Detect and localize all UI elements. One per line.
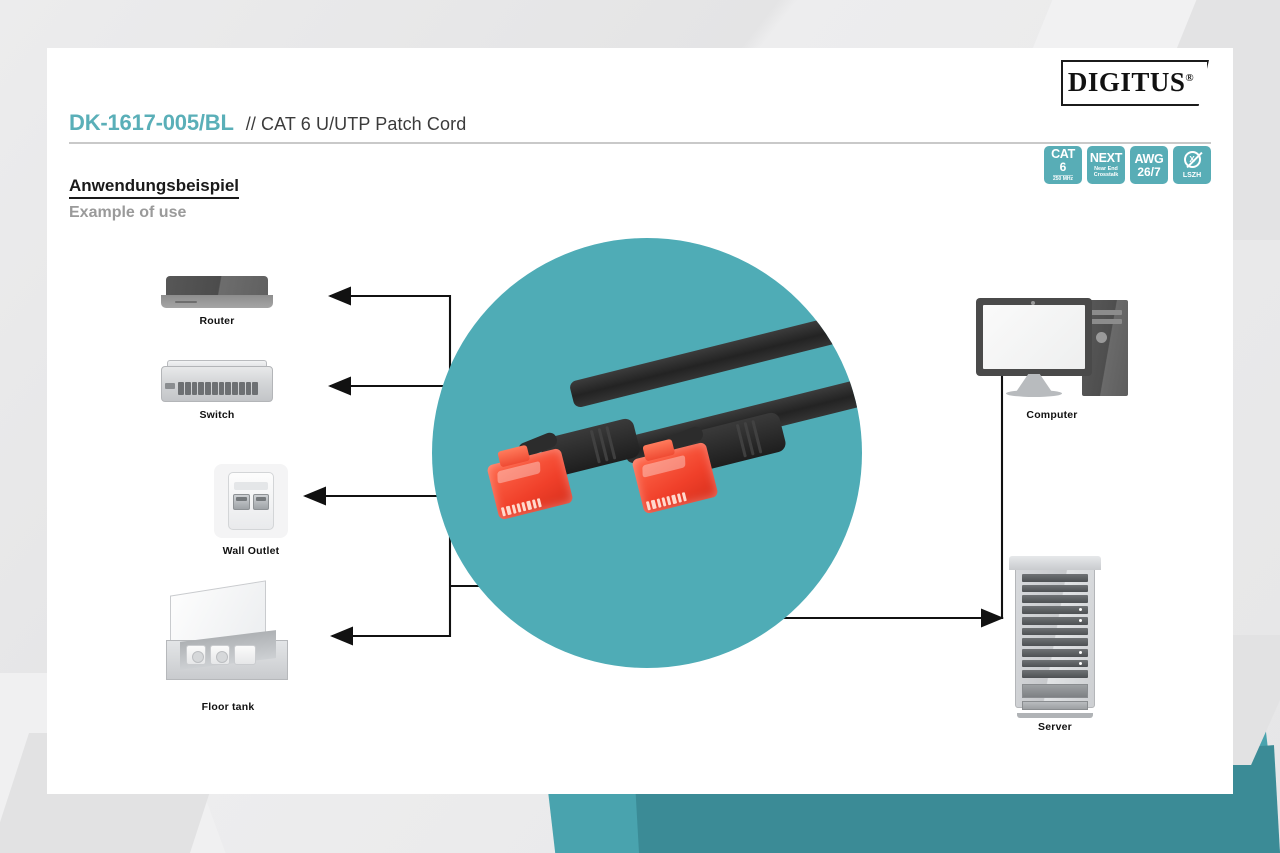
cat6-badge-line2: 6 [1060, 161, 1067, 173]
section-heading-de: Anwendungsbeispiel [69, 176, 239, 199]
title-separator: // [246, 114, 256, 134]
title-divider [69, 142, 1211, 144]
product-photo-circle [432, 238, 862, 668]
logo-wordmark: DIGITUS® [1061, 67, 1201, 98]
lszh-badge: X LSZH [1173, 146, 1211, 184]
rj45-connector-right [631, 442, 718, 515]
node-wall-outlet-label: Wall Outlet [177, 545, 325, 557]
registered-trademark-icon: ® [1185, 72, 1194, 84]
product-sku: DK-1617-005/BL [69, 110, 234, 136]
certification-badges: CAT 6 250 MHz NEXT Near End Crosstalk AW… [1044, 146, 1211, 184]
section-heading-en: Example of use [69, 204, 239, 222]
application-diagram: Router Switch Wall Outlet Floor tank [47, 226, 1233, 746]
awg-badge: AWG 26/7 [1130, 146, 1168, 184]
rj45-connector-left [486, 448, 573, 521]
product-title-row: DK-1617-005/BL // CAT 6 U/UTP Patch Cord [69, 110, 1211, 144]
node-computer-label: Computer [967, 409, 1137, 421]
cat6-badge: CAT 6 250 MHz [1044, 146, 1082, 184]
lszh-badge-label: LSZH [1183, 172, 1201, 179]
node-switch: Switch [143, 366, 291, 421]
rj45-pins-right [646, 492, 687, 510]
node-router: Router [143, 276, 291, 327]
section-heading: Anwendungsbeispiel Example of use [69, 176, 239, 222]
datasheet-card: DIGITUS® DK-1617-005/BL // CAT 6 U/UTP P… [47, 48, 1233, 794]
router-icon [161, 276, 273, 308]
next-badge: NEXT Near End Crosstalk [1087, 146, 1125, 184]
node-wall-outlet: Wall Outlet [177, 464, 325, 557]
node-floor-tank-label: Floor tank [133, 701, 323, 713]
node-floor-tank: Floor tank [133, 588, 323, 713]
awg-badge-line2: 26/7 [1137, 166, 1160, 178]
rj45-pins-left [501, 498, 542, 516]
node-server-label: Server [1005, 721, 1105, 733]
node-server: Server [1005, 556, 1105, 733]
wall-outlet-icon [214, 464, 288, 538]
node-switch-label: Switch [143, 409, 291, 421]
logo-text: DIGITUS [1068, 67, 1186, 97]
floor-tank-icon [164, 588, 292, 694]
server-icon [1009, 556, 1101, 714]
switch-icon [161, 366, 273, 402]
next-badge-line1: NEXT [1090, 152, 1122, 165]
product-description-text: CAT 6 U/UTP Patch Cord [261, 114, 466, 134]
product-description: // CAT 6 U/UTP Patch Cord [246, 114, 467, 135]
node-computer: Computer [967, 298, 1137, 421]
digitus-logo: DIGITUS® [1061, 60, 1209, 106]
node-router-label: Router [143, 315, 291, 327]
computer-icon [976, 298, 1128, 402]
awg-badge-line1: AWG [1135, 153, 1164, 166]
next-badge-sub: Near End Crosstalk [1087, 166, 1125, 180]
no-halogen-icon: X [1184, 151, 1201, 168]
cat6-badge-line3: 250 MHz [1053, 175, 1073, 182]
